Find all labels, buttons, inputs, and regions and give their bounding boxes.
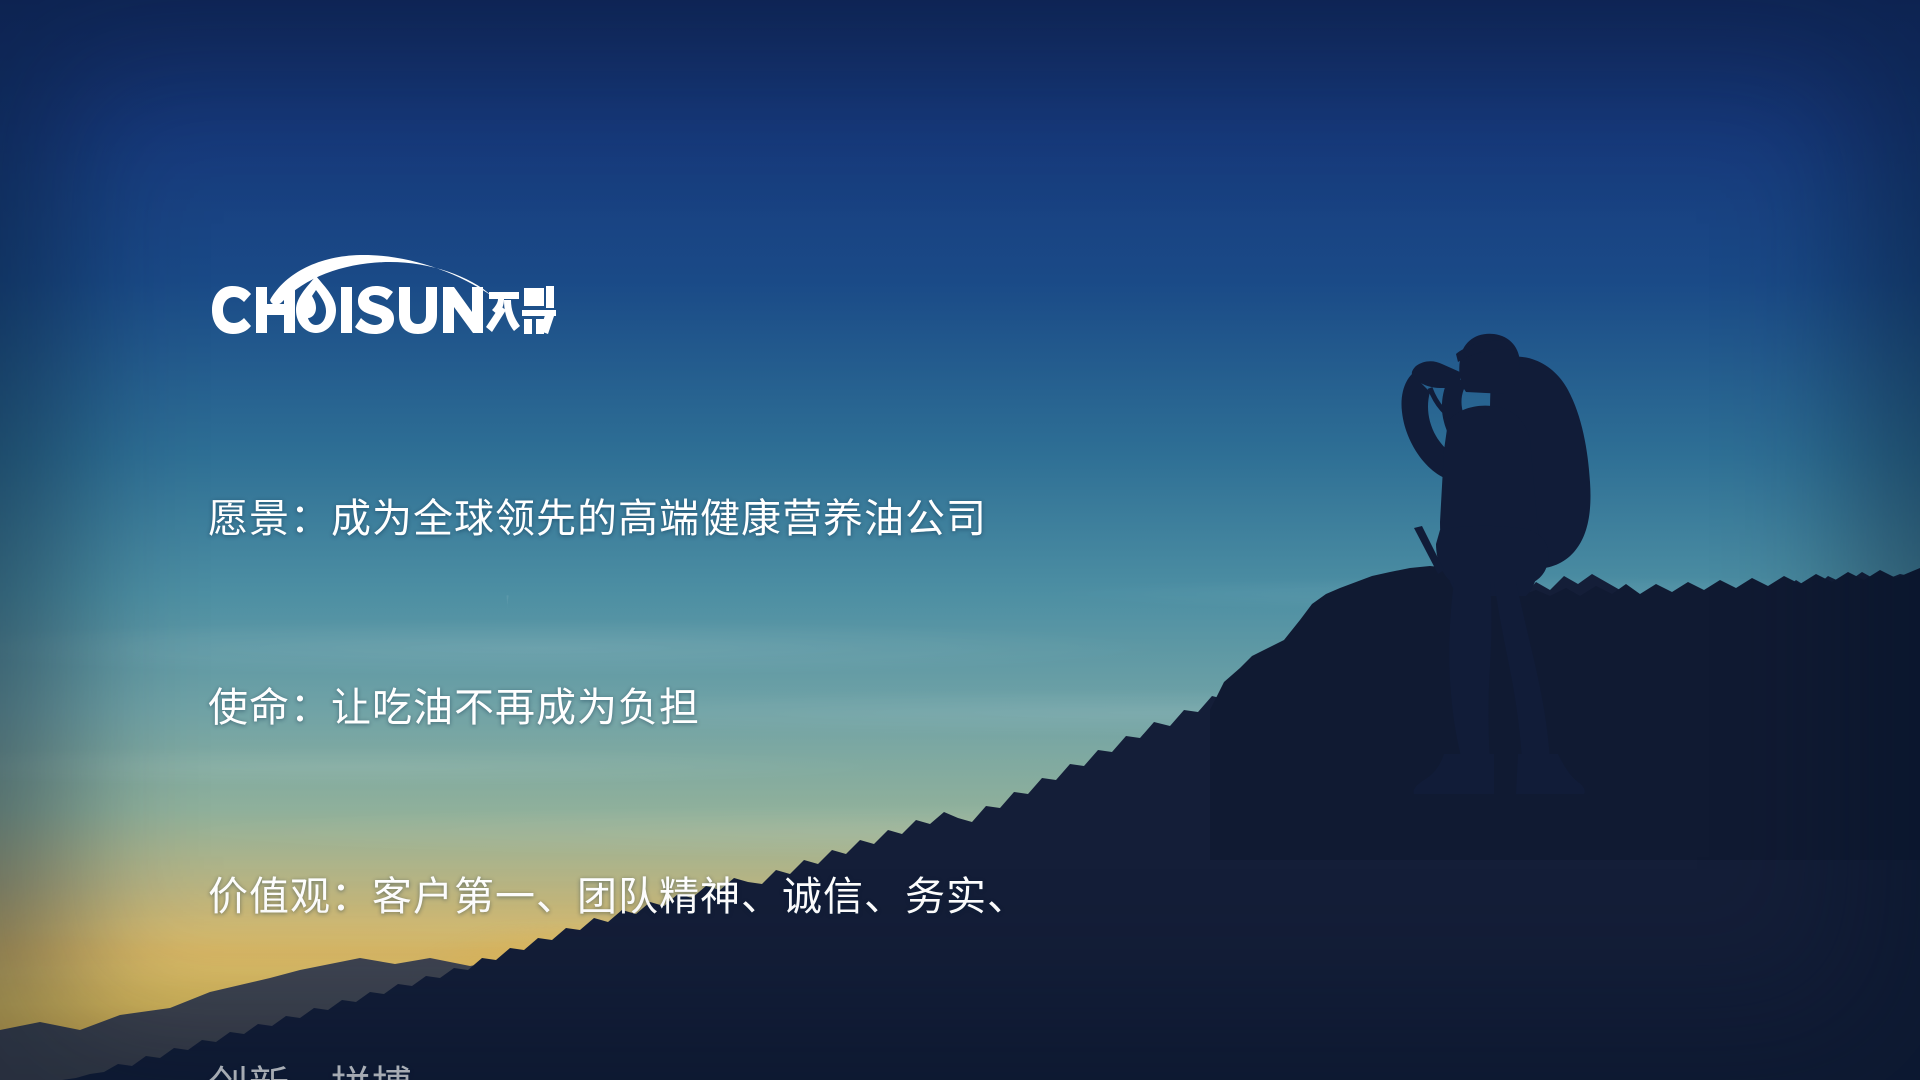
content-block: 愿景：成为全球领先的高端健康营养油公司 使命：让吃油不再成为负担 价值观：客户第… [208,248,1308,1080]
right-leg-shape [1494,582,1550,760]
cn-line-values: 价值观：客户第一、团队精神、诚信、务实、 [208,866,1308,929]
logo-wordmark-cn [486,286,556,334]
hiker-silhouette [1378,330,1628,800]
cn-line-mission: 使命：让吃油不再成为负担 [208,677,1308,740]
slide-canvas: 愿景：成为全球领先的高端健康营养油公司 使命：让吃油不再成为负担 价值观：客户第… [0,0,1920,1080]
logo-wordmark-isun [341,286,483,334]
hip-shape [1436,526,1548,584]
cn-line-values-cont: 创新、拼搏 [208,1055,1308,1080]
cn-line-vision: 愿景：成为全球领先的高端健康营养油公司 [208,488,1308,551]
left-leg-shape [1449,582,1491,760]
mission-statement-cn: 愿景：成为全球领先的高端健康营养油公司 使命：让吃油不再成为负担 价值观：客户第… [208,362,1308,1080]
brand-logo[interactable] [208,248,558,340]
left-boot-shape [1413,754,1494,794]
right-boot-shape [1516,754,1585,794]
